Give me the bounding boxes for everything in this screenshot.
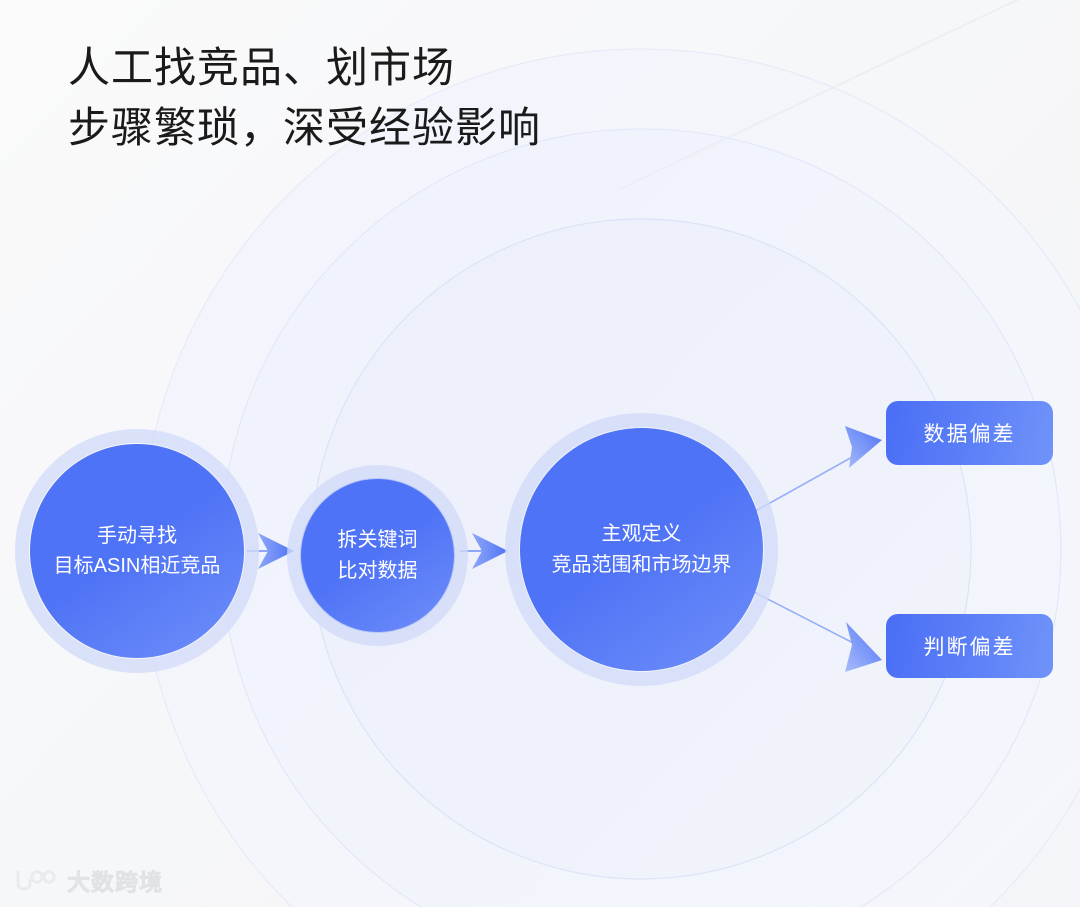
node-label-line-2: 竞品范围和市场边界 [552,550,732,580]
arrow-node3-to-outcome1 [752,426,882,513]
logo-mark-icon [14,867,58,893]
node-label-line-2: 比对数据 [338,556,418,586]
node-label-line-2: 目标ASIN相近竞品 [54,551,221,581]
outcome-box-data-bias[interactable]: 数据偏差 [886,401,1053,465]
watermark: 大数跨境 [14,863,163,897]
flow-node-keyword-compare[interactable]: 拆关键词 比对数据 [300,478,455,633]
flow-node-subjective-definition[interactable]: 主观定义 竞品范围和市场边界 [520,428,763,671]
node-label-line-1: 主观定义 [602,519,682,549]
node-label-line-1: 手动寻找 [97,521,177,551]
node-label-line-1: 拆关键词 [338,525,418,555]
arrow-node3-to-outcome2 [752,591,882,672]
flow-node-manual-search[interactable]: 手动寻找 目标ASIN相近竞品 [30,444,244,658]
slide-canvas: 人工找竞品、划市场 步骤繁琐，深受经验影响 [0,0,1080,907]
outcome-box-judgment-bias[interactable]: 判断偏差 [886,614,1053,678]
watermark-text: 大数跨境 [67,863,163,897]
